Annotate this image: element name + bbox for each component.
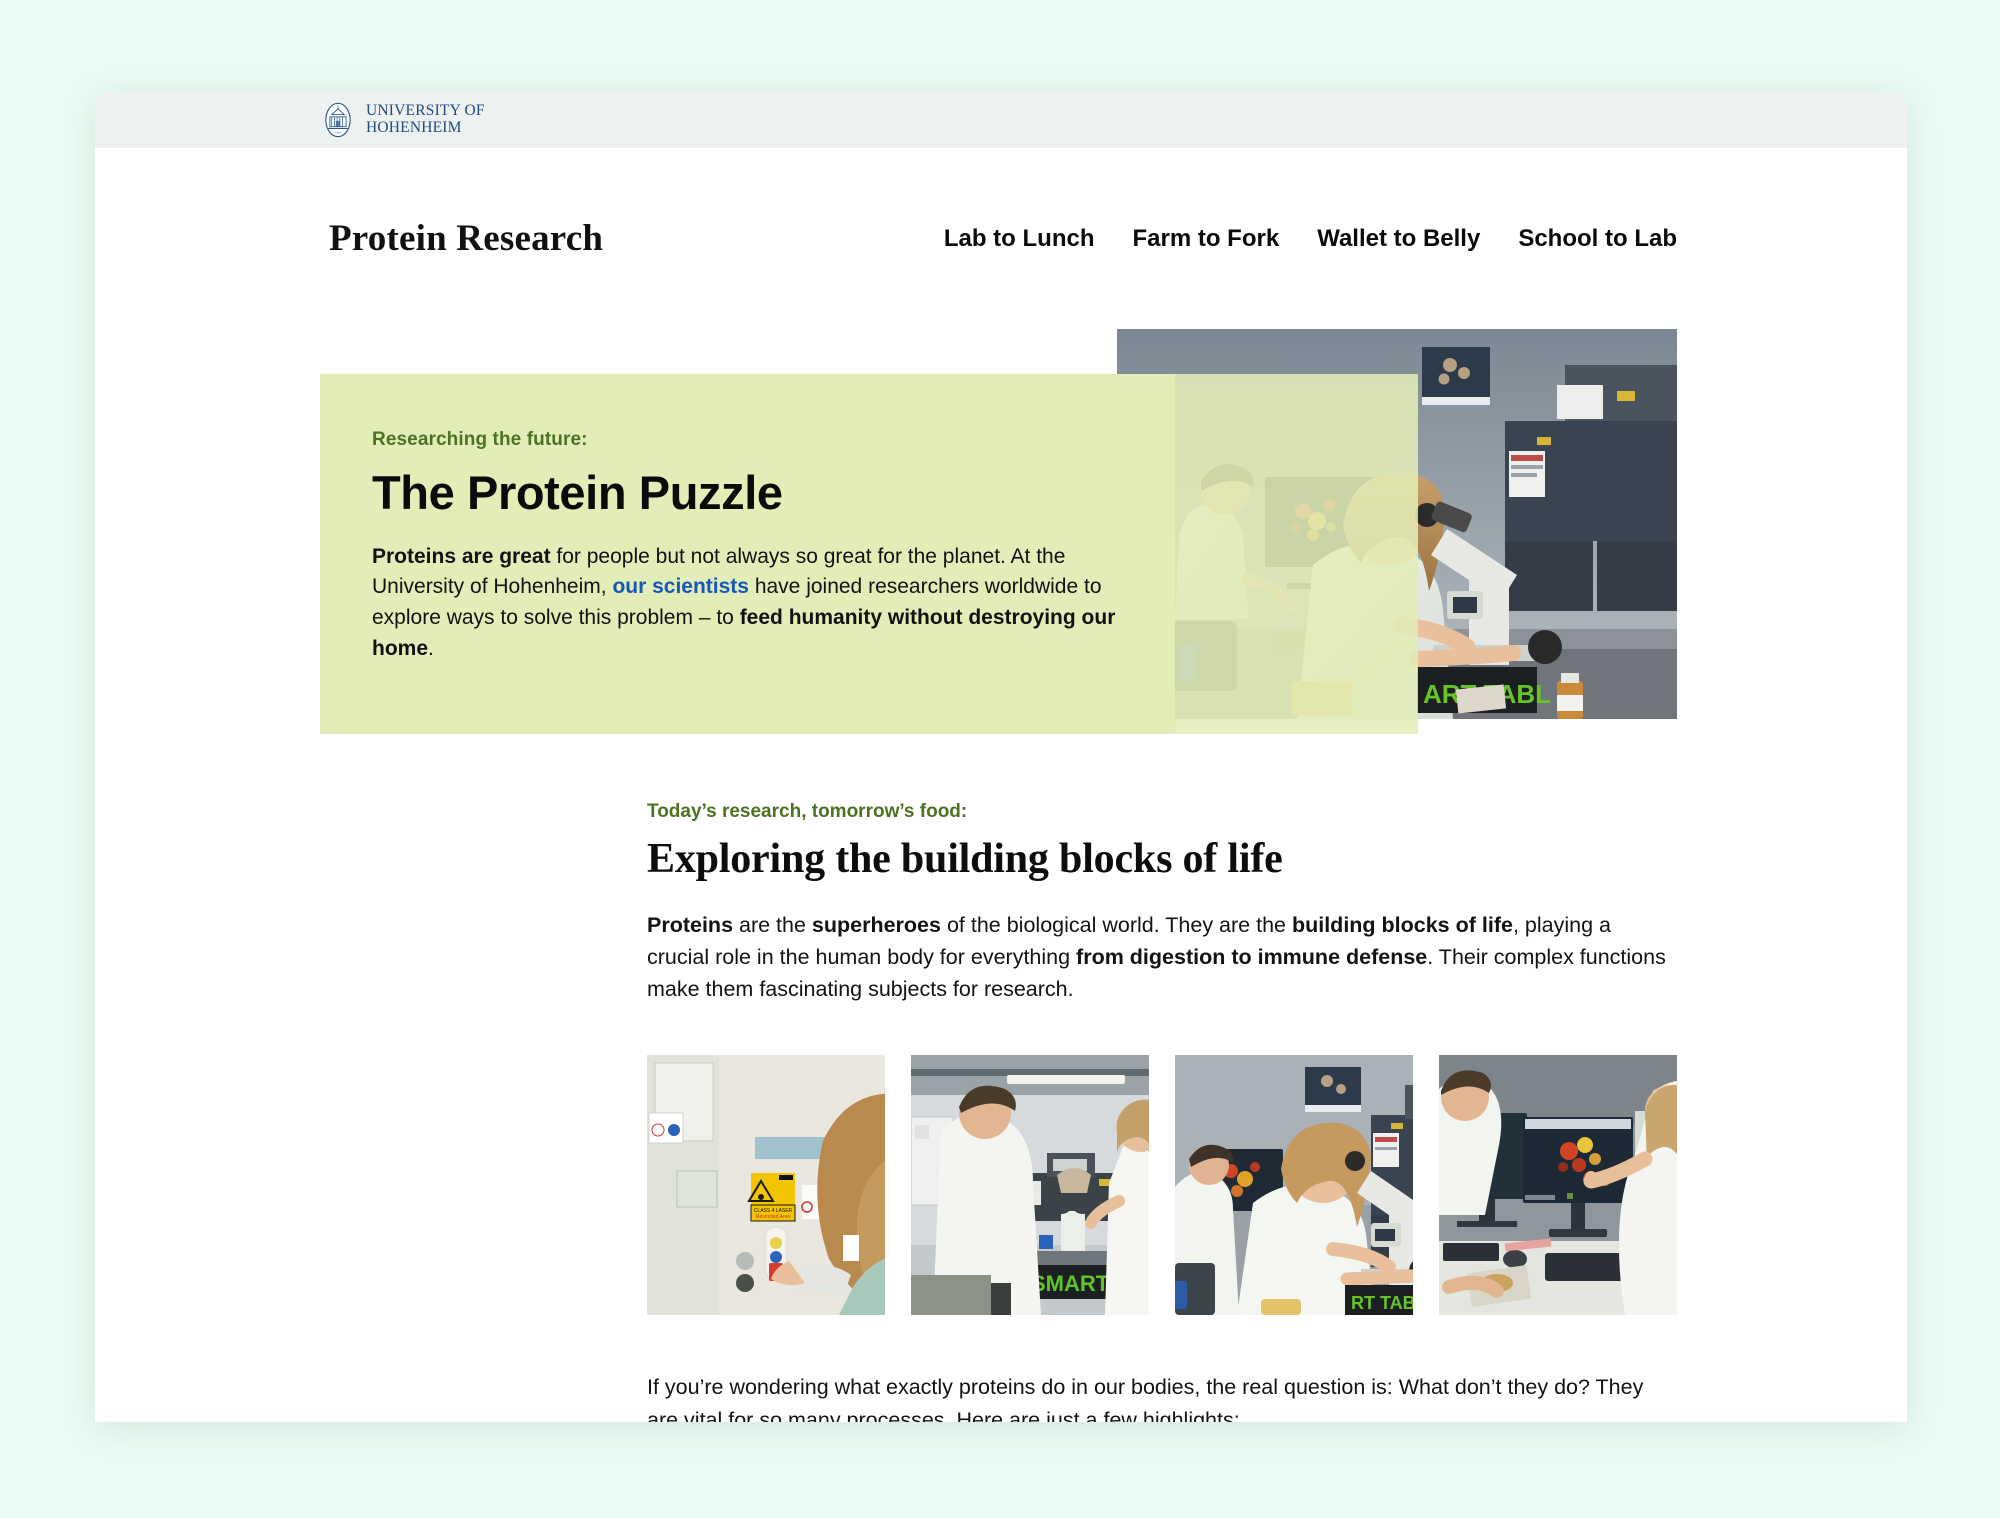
article-closing-paragraph: If you’re wondering what exactly protein… <box>647 1371 1677 1422</box>
hero-eyebrow: Researching the future: <box>372 429 1175 451</box>
university-logo[interactable]: 1818 UNIVERSITY OF HOHENHEIM <box>320 102 485 138</box>
article-title: Exploring the building blocks of life <box>647 835 1677 883</box>
hero-title: The Protein Puzzle <box>372 465 1175 520</box>
brand-line-2: HOHENHEIM <box>366 119 462 136</box>
article-paragraph: Proteins are the superheroes of the biol… <box>647 909 1677 1006</box>
article-bold-3: building blocks of life <box>1292 913 1513 937</box>
nav-item-lab-to-lunch[interactable]: Lab to Lunch <box>944 225 1095 253</box>
brand-bar: 1818 UNIVERSITY OF HOHENHEIM <box>95 92 1907 148</box>
nav-item-farm-to-fork[interactable]: Farm to Fork <box>1133 225 1280 253</box>
brand-line-1: UNIVERSITY OF <box>366 102 485 119</box>
svg-text:RT TAB: RT TAB <box>1351 1293 1413 1313</box>
main-nav: Lab to Lunch Farm to Fork Wallet to Bell… <box>944 225 1677 253</box>
our-scientists-link[interactable]: our scientists <box>612 575 749 598</box>
svg-text:1818: 1818 <box>335 131 342 135</box>
hero-lead-bold: Proteins are great <box>372 545 551 568</box>
university-crest-icon: 1818 <box>320 102 356 138</box>
page-title-text: Protein Research <box>329 218 603 259</box>
thumbnail-laser-door[interactable]: CLASS 4 LASER Restricted Area <box>647 1055 885 1315</box>
thumbnail-smart-table[interactable]: SMARTTABL <box>911 1055 1149 1315</box>
article-eyebrow: Today’s research, tomorrow’s food: <box>647 801 1677 823</box>
article-bold-1: Proteins <box>647 913 733 937</box>
hero-paragraph: Proteins are great for people but not al… <box>372 542 1132 665</box>
article-section: Today’s research, tomorrow’s food: Explo… <box>95 801 1907 1422</box>
article-text-1: are the <box>733 913 812 937</box>
brand-wordmark: UNIVERSITY OF HOHENHEIM <box>366 103 485 136</box>
page-card: 1818 UNIVERSITY OF HOHENHEIM Protein Res… <box>95 92 1907 1422</box>
hero-section: ART TABL Researching the future: The Pro… <box>95 329 1907 739</box>
hero-period: . <box>428 637 434 660</box>
svg-text:Restricted Area: Restricted Area <box>756 1214 790 1220</box>
article-bold-4: from digestion to immune defense <box>1076 945 1427 969</box>
hero-panel-image-overlap <box>1175 374 1418 734</box>
article-bold-2: superheroes <box>812 913 941 937</box>
article-text-2: of the biological world. They are the <box>941 913 1292 937</box>
site-header: Protein Research Lab to Lunch Farm to Fo… <box>95 148 1907 287</box>
thumbnail-gallery: CLASS 4 LASER Restricted Area <box>647 1055 1677 1315</box>
thumbnail-microscope-work[interactable]: RT TAB <box>1175 1055 1413 1315</box>
hero-text-panel: Researching the future: The Protein Puzz… <box>320 374 1175 734</box>
nav-item-school-to-lab[interactable]: School to Lab <box>1518 225 1677 253</box>
page-title: Protein Research <box>325 217 607 262</box>
thumbnail-monitor-analysis[interactable] <box>1439 1055 1677 1315</box>
nav-item-wallet-to-belly[interactable]: Wallet to Belly <box>1317 225 1480 253</box>
